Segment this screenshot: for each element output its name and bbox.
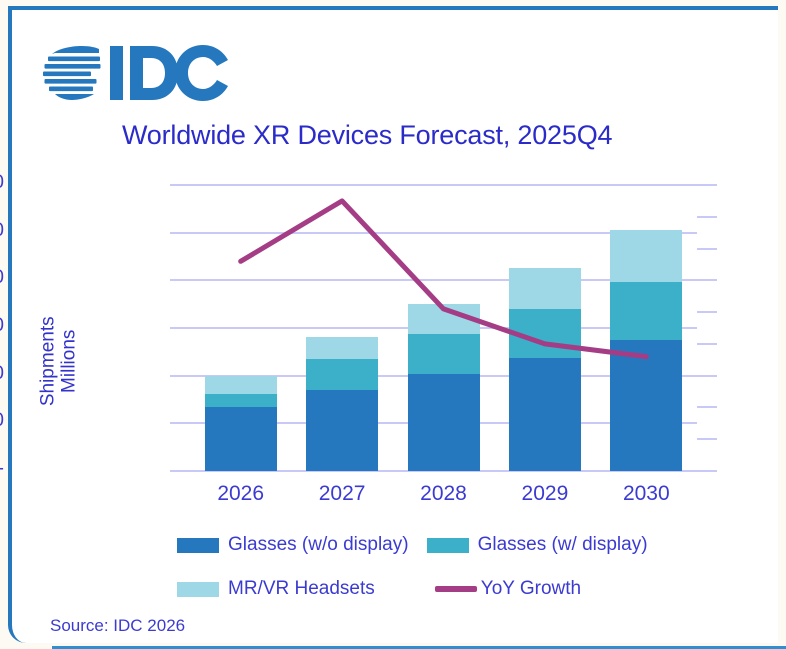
y2-axis-tick [697,184,717,186]
legend-item-yoy-growth[interactable]: YoY Growth [435,578,581,600]
y-axis-label: - [0,458,4,480]
y2-axis-tick [697,375,717,377]
y-axis-label: 60 [0,172,4,194]
chart-title: Worldwide XR Devices Forecast, 2025Q4 [122,120,722,151]
y-axis-tick [170,375,190,377]
y2-axis-tick [697,311,717,313]
y2-axis-tick [697,438,717,440]
legend-item-glasses-w-display[interactable]: Glasses (w/ display) [427,534,648,556]
y-axis-label: 40 [0,267,4,289]
source-note: Source: IDC 2026 [50,616,185,636]
idc-logo [42,40,232,102]
y-axis-tick [170,422,190,424]
legend-swatch-yoy-growth [435,586,477,592]
y2-axis-tick [697,248,717,250]
legend-item-glasses-wo-display[interactable]: Glasses (w/o display) [177,534,409,556]
y2-axis-tick [697,470,717,472]
chart-card: Worldwide XR Devices Forecast, 2025Q4 Sh… [8,6,778,643]
y2-axis-tick [697,406,717,408]
y-axis-tick [170,470,190,472]
legend-swatch-glasses-wo-display [177,538,219,553]
chart-legend: Glasses (w/o display) Glasses (w/ displa… [177,530,722,618]
y-axis-label: 30 [0,315,4,337]
x-axis-label: 2027 [287,482,397,506]
yoy-growth-polyline [241,201,647,357]
y2-axis-tick [697,279,717,281]
y2-axis-tick [697,343,717,345]
legend-item-mrvr-headsets[interactable]: MR/VR Headsets [177,578,375,600]
x-axis-label: 2030 [591,482,701,506]
y-axis-label: 20 [0,363,4,385]
y2-axis-tick [697,216,717,218]
x-axis-label: 2028 [389,482,499,506]
y-axis-tick [170,232,190,234]
legend-swatch-mrvr-headsets [177,582,219,597]
y-axis-label: 50 [0,220,4,242]
x-axis-label: 2026 [186,482,296,506]
legend-swatch-glasses-w-display [427,538,469,553]
x-axis-label: 2029 [490,482,600,506]
legend-row-2: MR/VR Headsets YoY Growth [177,574,722,604]
legend-label-glasses-wo-display: Glasses (w/o display) [228,534,409,556]
legend-label-glasses-w-display: Glasses (w/ display) [478,534,648,556]
y-axis-title: Shipments Millions [38,256,81,466]
y-axis-title-line2: Millions [59,330,80,393]
y-axis-title-line1: Shipments [38,316,59,406]
y-axis-label: 10 [0,410,4,432]
yoy-growth-line [190,185,697,471]
legend-label-mrvr-headsets: MR/VR Headsets [228,578,375,600]
legend-row-1: Glasses (w/o display) Glasses (w/ displa… [177,530,722,560]
legend-label-yoy-growth: YoY Growth [481,578,581,600]
y-axis-tick [170,184,190,186]
y-axis-tick [170,279,190,281]
y-axis-tick [170,327,190,329]
